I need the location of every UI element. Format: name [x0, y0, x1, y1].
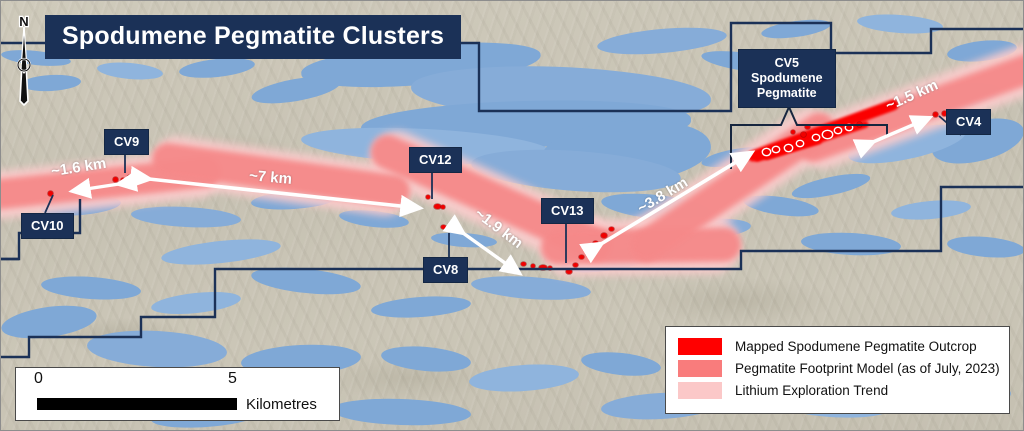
legend-swatch-footprint [678, 360, 722, 377]
legend-label-footprint: Pegmatite Footprint Model (as of July, 2… [735, 361, 1000, 376]
map-figure: N Spodumene Pegmatite Clusters CV10 CV9 … [0, 0, 1024, 431]
cluster-label-cv9[interactable]: CV9 [104, 129, 149, 155]
outcrop-dot [593, 241, 598, 245]
outcrop-dot [548, 266, 552, 270]
outcrop-dot [601, 233, 607, 238]
outcrop-dot [791, 130, 795, 134]
cv5-line-1: CV5 [751, 56, 823, 71]
legend-item-trend: Lithium Exploration Trend [678, 382, 999, 399]
outcrop-dot [763, 149, 770, 155]
outcrop-dot [531, 264, 535, 268]
cluster-label-cv4[interactable]: CV4 [946, 109, 991, 135]
legend: Mapped Spodumene Pegmatite Outcrop Pegma… [665, 326, 1010, 414]
cluster-label-cv5[interactable]: CV5 Spodumene Pegmatite [738, 49, 836, 108]
outcrop-dot [773, 147, 779, 152]
outcrop-dot [585, 247, 591, 252]
outcrop-dot [785, 145, 792, 151]
scale-min: 0 [34, 370, 43, 388]
legend-item-footprint: Pegmatite Footprint Model (as of July, 2… [678, 360, 999, 377]
outcrop-dot [609, 227, 614, 231]
outcrop-dot [521, 262, 526, 266]
outcrop-dot [539, 265, 547, 270]
outcrop-dot [48, 191, 53, 196]
outcrop-dot [835, 128, 841, 133]
outcrop-dot [426, 195, 430, 199]
outcrop-dot [933, 112, 938, 117]
outcrop-dot [805, 125, 810, 129]
outcrop-dot [573, 263, 578, 267]
scale-max: 5 [228, 370, 237, 388]
north-arrow-icon: N [9, 13, 39, 109]
outcrop-dot [857, 122, 862, 127]
page-title: Spodumene Pegmatite Clusters [45, 15, 461, 59]
outcrop-dot [579, 255, 584, 259]
cluster-label-cv12[interactable]: CV12 [409, 147, 462, 173]
outcrop-dot [441, 225, 446, 229]
outcrop-dot [797, 141, 803, 146]
legend-label-trend: Lithium Exploration Trend [735, 383, 888, 398]
outcrop-dot [450, 227, 457, 232]
legend-swatch-outcrop [678, 338, 722, 355]
north-letter: N [19, 14, 28, 29]
outcrop-dot [846, 125, 852, 130]
scale-bar-fill [37, 398, 237, 410]
outcrop-dot [121, 178, 125, 182]
legend-item-outcrop: Mapped Spodumene Pegmatite Outcrop [678, 338, 999, 355]
outcrop-dot [566, 269, 572, 274]
outcrop-dot [801, 132, 806, 137]
scale-bar: 0 5 Kilometres [15, 367, 340, 421]
cluster-label-cv10[interactable]: CV10 [21, 213, 74, 239]
cluster-label-cv13[interactable]: CV13 [541, 198, 594, 224]
outcrop-dot [434, 204, 441, 209]
outcrop-dot [441, 205, 445, 209]
outcrop-dot [113, 177, 118, 182]
scale-unit: Kilometres [246, 396, 317, 413]
distance-label-7km: ~7 km [248, 167, 292, 188]
outcrop-dot [132, 179, 136, 183]
cv5-line-2: Spodumene [751, 71, 823, 86]
legend-swatch-trend [678, 382, 722, 399]
legend-label-outcrop: Mapped Spodumene Pegmatite Outcrop [735, 339, 977, 354]
outcrop-dot [813, 135, 819, 140]
outcrop-dot [823, 131, 832, 138]
cluster-label-cv8[interactable]: CV8 [423, 257, 468, 283]
cv5-line-3: Pegmatite [751, 86, 823, 101]
